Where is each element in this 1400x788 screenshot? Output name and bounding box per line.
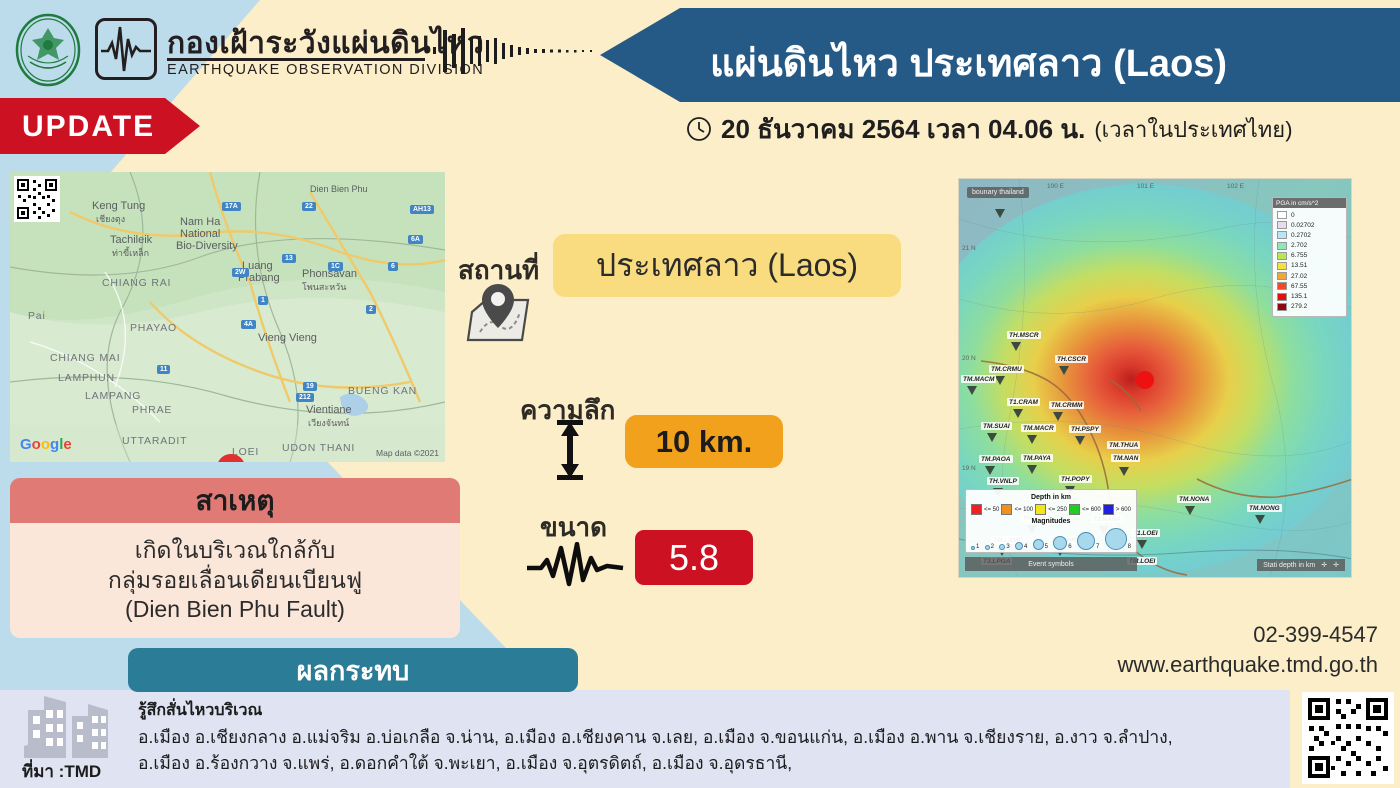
station-marker-icon xyxy=(1053,412,1063,421)
station-marker-icon xyxy=(1075,436,1085,445)
map-pin-icon xyxy=(466,282,534,346)
pga-value: 279.2 xyxy=(1291,303,1307,310)
magnitude-dot xyxy=(1015,542,1023,550)
coord-101e: 101 E xyxy=(1137,183,1154,190)
impact-area-line-1: อ.เมือง อ.เชียงกลาง อ.แม่จริม อ.บ่อเกลือ… xyxy=(138,725,1278,751)
depth-value: 10 km. xyxy=(656,424,753,460)
stat-depth-minus-icon[interactable]: ✛ xyxy=(1333,561,1339,569)
pga-swatch xyxy=(1277,211,1287,219)
depth-label: <= 50 xyxy=(984,507,999,513)
pga-shakemap[interactable]: bounary thailand 100 E 101 E 102 E 21 N … xyxy=(958,178,1352,578)
seismograph-wave-icon xyxy=(525,542,625,588)
event-symbols-bar[interactable]: Event symbols xyxy=(965,557,1137,571)
station-marker-icon xyxy=(1059,366,1069,375)
map-shield-6: 6 xyxy=(388,262,398,271)
pga-legend-title: PGA in cm/s^2 xyxy=(1273,198,1346,208)
pga-swatch xyxy=(1277,231,1287,239)
pga-swatch xyxy=(1277,221,1287,229)
map-place-viengvieng: Vieng Vieng xyxy=(258,332,317,344)
magnitude-dot xyxy=(1105,528,1127,550)
station-label: TM.NONG xyxy=(1247,504,1282,512)
depth-magnitude-legend: Depth in km <= 50 <= 100 <= 250 <= 600 >… xyxy=(965,489,1137,553)
map-place-phonsavan-thai: โพนสะหวัน xyxy=(302,280,346,294)
pga-swatch xyxy=(1277,293,1287,301)
chip-location: ประเทศลาว (Laos) xyxy=(553,234,901,297)
update-badge-label: UPDATE xyxy=(22,110,155,144)
station-label: TH.POPY xyxy=(1059,475,1092,483)
seismic-tick-marks-icon xyxy=(425,26,610,76)
depth-swatch xyxy=(1103,504,1114,515)
map-shield-13: 13 xyxy=(282,254,296,263)
datetime-row: 20 ธันวาคม 2564 เวลา 04.06 น. (เวลาในประ… xyxy=(686,112,1400,146)
station-marker-icon xyxy=(1027,435,1037,444)
magnitude-value: 5.8 xyxy=(669,537,719,579)
map-province-pai: Pai xyxy=(28,310,46,322)
depth-swatch xyxy=(1001,504,1012,515)
map-province-phayao: PHAYAO xyxy=(130,322,177,334)
magnitude-dot xyxy=(1077,532,1095,550)
stat-depth-plus-icon[interactable]: ✛ xyxy=(1321,561,1327,569)
station-label: TM.SUAI xyxy=(981,422,1012,430)
chip-depth: 10 km. xyxy=(625,415,783,468)
station-marker-icon xyxy=(1185,506,1195,515)
pga-swatch xyxy=(1277,272,1287,280)
magnitude-tick: 5 xyxy=(1045,544,1048,550)
page-title: แผ่นดินไหว ประเทศลาว (Laos) xyxy=(710,32,1390,93)
cause-body: เกิดในบริเวณใกล้กับ กลุ่มรอยเลื่อนเดียนเ… xyxy=(10,523,460,638)
station-label: TM.PAOA xyxy=(979,455,1013,463)
map-shield-19: 19 xyxy=(303,382,317,391)
map-province-uttaradit: UTTARADIT xyxy=(122,435,187,447)
coord-21n: 21 N xyxy=(962,245,976,252)
station-marker-icon xyxy=(1011,342,1021,351)
map-shield-6a: 6A xyxy=(408,235,423,244)
thai-meteorological-department-seal-icon xyxy=(14,12,82,88)
contact-website: www.earthquake.tmd.go.th xyxy=(1118,650,1378,680)
source-label: ที่มา :TMD xyxy=(22,758,101,785)
map-park-line3: Bio-Diversity xyxy=(176,240,238,252)
map-park-line1: Nam Ha xyxy=(180,216,220,228)
magnitude-tick: 8 xyxy=(1128,544,1131,550)
pga-swatch xyxy=(1277,262,1287,270)
map-shield-11: 11 xyxy=(157,365,170,374)
magnitude-tick: 3 xyxy=(1006,544,1009,550)
earthquake-division-logo: กองเฝ้าระวังแผ่นดินไหว EARTHQUAKE OBSERV… xyxy=(95,18,425,90)
coord-20n: 20 N xyxy=(962,355,976,362)
cause-line-3: (Dien Bien Phu Fault) xyxy=(125,595,345,624)
magnitude-dot xyxy=(1033,539,1044,550)
magnitude-dot xyxy=(999,544,1005,550)
map-shield-ah13: AH13 xyxy=(410,205,434,214)
pga-swatch xyxy=(1277,282,1287,290)
station-marker-icon xyxy=(995,209,1005,218)
station-marker-icon xyxy=(1137,540,1147,549)
station-label: TM.CRMU xyxy=(989,365,1024,373)
depth-swatch xyxy=(1069,504,1080,515)
station-marker-icon xyxy=(1013,409,1023,418)
map-place-tachileik-thai: ท่าขี้เหล็ก xyxy=(112,246,149,260)
map-data-credit: Map data ©2021 xyxy=(376,448,439,458)
magnitude-tick: 2 xyxy=(991,544,994,550)
station-label: T1.CRAM xyxy=(1007,398,1040,406)
station-marker-icon xyxy=(967,386,977,395)
pga-value: 6.755 xyxy=(1291,252,1307,259)
impact-area-line-2: อ.เมือง อ.ร้องกวาง จ.แพร่, อ.ดอกคำใต้ จ.… xyxy=(138,751,1278,777)
map-shield-212: 212 xyxy=(296,393,314,402)
chip-magnitude: 5.8 xyxy=(635,530,753,585)
pga-value: 27.02 xyxy=(1291,273,1307,280)
cause-line-1: เกิดในบริเวณใกล้กับ xyxy=(135,536,336,565)
station-marker-icon xyxy=(1027,465,1037,474)
station-label: TM.NAN xyxy=(1111,454,1140,462)
magnitude-tick: 6 xyxy=(1068,544,1071,550)
map-province-chiangrai: CHIANG RAI xyxy=(102,277,171,289)
map-place-vientiane: Vientiane xyxy=(306,404,352,416)
pga-value: 0 xyxy=(1291,212,1295,219)
depth-swatch xyxy=(1035,504,1046,515)
page-header: กองเฝ้าระวังแผ่นดินไหว EARTHQUAKE OBSERV… xyxy=(0,0,1400,160)
station-label: TM.THUA xyxy=(1107,441,1140,449)
damaged-building-icon xyxy=(22,690,118,760)
map-shield-2w: 2W xyxy=(232,268,249,277)
magnitude-dot xyxy=(971,546,975,550)
depth-legend-title: Depth in km xyxy=(971,494,1131,501)
map-province-chiangmai: CHIANG MAI xyxy=(50,352,120,364)
station-label: TM.MACR xyxy=(1021,424,1056,432)
station-depth-control[interactable]: Stati depth in km ✛ ✛ xyxy=(1257,559,1345,571)
map-province-phrae: PHRAE xyxy=(132,404,172,416)
contact-phone: 02-399-4547 xyxy=(1118,620,1378,650)
station-marker-icon xyxy=(1119,467,1129,476)
impact-heading-text: ผลกระทบ xyxy=(297,649,410,692)
station-label: TM.CRMM xyxy=(1049,401,1084,409)
cause-line-2: กลุ่มรอยเลื่อนเดียนเบียนฟู xyxy=(108,566,362,595)
map-province-buengkan: BUENG KAN xyxy=(348,385,417,397)
pga-swatch xyxy=(1277,252,1287,260)
pga-value: 13.51 xyxy=(1291,262,1307,269)
cause-heading: สาเหตุ xyxy=(10,478,460,523)
magnitude-dot xyxy=(1053,536,1067,550)
map-place-tachileik: Tachileik xyxy=(110,234,152,246)
pga-swatch xyxy=(1277,242,1287,250)
timezone-note: (เวลาในประเทศไทย) xyxy=(1094,112,1292,147)
clock-icon xyxy=(686,116,712,142)
map-province-udonthani: UDON THANI xyxy=(282,442,355,454)
station-label: TH.PSPY xyxy=(1069,425,1101,433)
coord-19n: 19 N xyxy=(962,465,976,472)
epicenter-location-map[interactable]: Keng Tung เชียงตุง Tachileik ท่าขี้เหล็ก… xyxy=(10,172,445,462)
station-label: TH.VNLP xyxy=(987,477,1019,485)
cause-card: สาเหตุ เกิดในบริเวณใกล้กับ กลุ่มรอยเลื่อ… xyxy=(10,478,460,638)
station-marker-icon xyxy=(1255,515,1265,524)
map-shield-4a: 4A xyxy=(241,320,256,329)
magnitudes-title: Magnitudes xyxy=(971,518,1131,525)
epicenter-map-pin-icon xyxy=(217,454,245,462)
qr-code-icon[interactable] xyxy=(1302,692,1394,784)
station-label: TH.MSCR xyxy=(1007,331,1041,339)
event-symbols-label: Event symbols xyxy=(1028,561,1074,568)
map-place-vientiane-thai: เวียงจันทน์ xyxy=(308,416,349,430)
map-terrain xyxy=(10,172,445,462)
map-shield-1c: 1C xyxy=(328,262,343,271)
magnitude-tick: 7 xyxy=(1096,544,1099,550)
boundary-tag: bounary thailand xyxy=(967,187,1029,198)
station-marker-icon xyxy=(995,376,1005,385)
station-label: TM.NONA xyxy=(1177,495,1211,503)
contact-block: 02-399-4547 www.earthquake.tmd.go.th xyxy=(1118,620,1378,679)
station-marker-icon xyxy=(985,466,995,475)
map-place-keng-tung-thai: เชียงตุง xyxy=(96,212,125,226)
depth-label: <= 250 xyxy=(1048,507,1067,513)
station-marker-icon xyxy=(987,433,997,442)
map-park-line2: National xyxy=(180,228,220,240)
depth-label: <= 100 xyxy=(1014,507,1033,513)
cause-heading-text: สาเหตุ xyxy=(195,479,274,523)
map-place-keng-tung: Keng Tung xyxy=(92,200,145,212)
map-province-lamphun: LAMPHUN xyxy=(58,372,115,384)
google-logo: Google xyxy=(20,436,72,453)
location-value: ประเทศลาว (Laos) xyxy=(596,240,858,291)
impact-body: รู้สึกสั่นไหวบริเวณ อ.เมือง อ.เชียงกลาง … xyxy=(128,690,1288,788)
station-label: TM.PAYA xyxy=(1021,454,1053,462)
map-qr-code-icon xyxy=(14,176,60,222)
impact-heading: ผลกระทบ xyxy=(128,648,578,692)
logo-divider xyxy=(167,58,425,61)
impact-subtitle: รู้สึกสั่นไหวบริเวณ xyxy=(138,698,1278,723)
pga-value: 2.702 xyxy=(1291,242,1307,249)
pga-value: 0.2702 xyxy=(1291,232,1311,239)
stat-depth-label: Stati depth in km xyxy=(1263,562,1315,569)
map-shield-1: 1 xyxy=(258,296,268,305)
station-label: TM.MACM xyxy=(961,375,996,383)
depth-arrow-icon xyxy=(552,418,588,482)
magnitude-tick: 4 xyxy=(1024,544,1027,550)
pga-legend: PGA in cm/s^2 0 0.02702 0.2702 2.702 6.7… xyxy=(1272,197,1347,317)
depth-label: > 600 xyxy=(1116,507,1131,513)
map-province-lampang: LAMPANG xyxy=(85,390,141,402)
coord-100e: 100 E xyxy=(1047,183,1064,190)
pga-swatch xyxy=(1277,303,1287,311)
seismograph-wave-glyph xyxy=(98,21,154,77)
depth-swatch xyxy=(971,504,982,515)
magnitude-tick: 1 xyxy=(976,544,979,550)
magnitude-dot xyxy=(985,545,990,550)
map-shield-17a: 17A xyxy=(222,202,241,211)
pga-value: 0.02702 xyxy=(1291,222,1315,229)
map-shield-2: 2 xyxy=(366,305,376,314)
pga-value: 135.1 xyxy=(1291,293,1307,300)
map-shield-22: 22 xyxy=(302,202,316,211)
station-label: TH.CSCR xyxy=(1055,355,1088,363)
map-place-dienbienphu: Dien Bien Phu xyxy=(310,184,368,194)
pga-value: 67.55 xyxy=(1291,283,1307,290)
seismograph-box-icon xyxy=(95,18,157,80)
event-datetime: 20 ธันวาคม 2564 เวลา 04.06 น. xyxy=(721,109,1085,150)
coord-102e: 102 E xyxy=(1227,183,1244,190)
depth-label: <= 600 xyxy=(1082,507,1101,513)
